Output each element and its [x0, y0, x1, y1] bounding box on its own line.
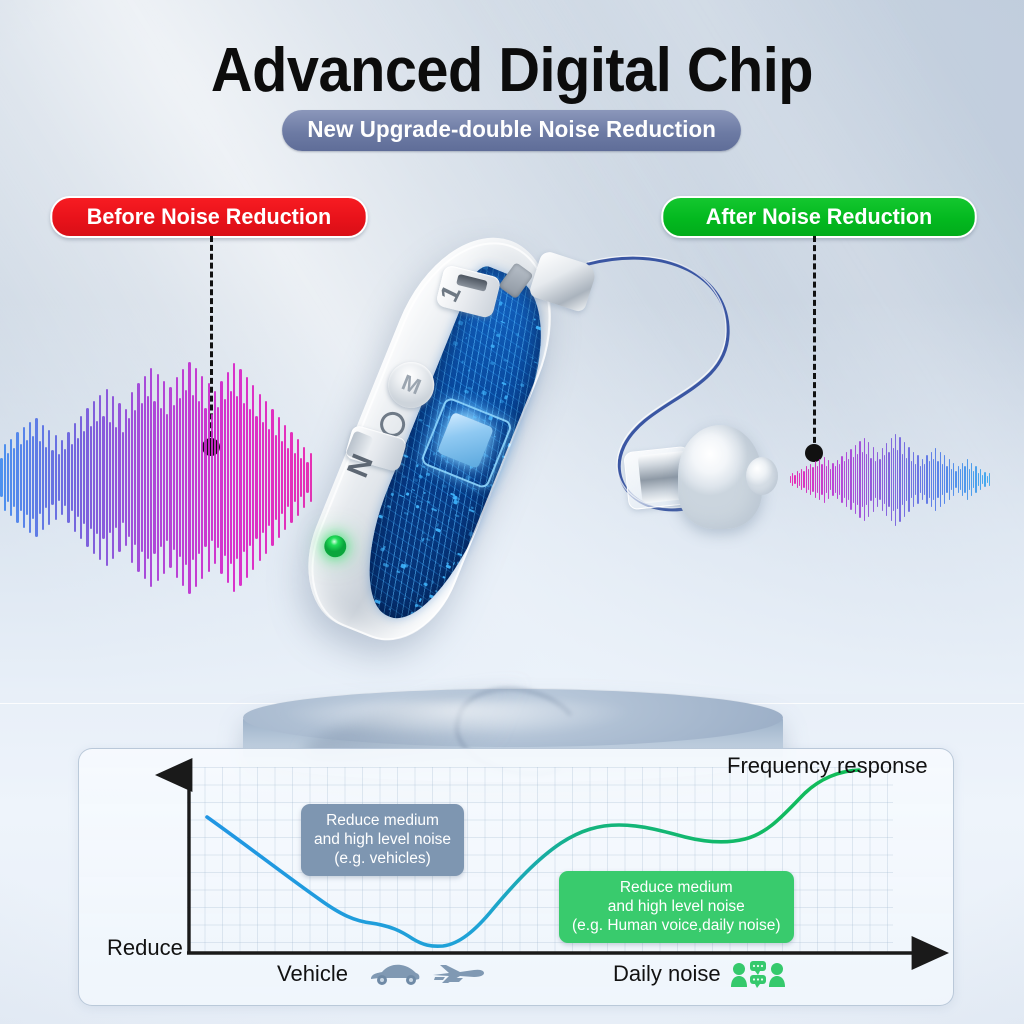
waveform-bar: [58, 454, 60, 500]
waveform-bar: [895, 434, 896, 526]
waveform-bar: [870, 458, 871, 502]
waveform-bar: [980, 469, 981, 490]
x-axis-label-vehicle: Vehicle: [277, 961, 348, 987]
waveform-bar: [853, 457, 854, 503]
waveform-bar: [973, 471, 974, 488]
waveform-bar: [198, 401, 200, 553]
waveform-bar: [841, 456, 842, 503]
waveform-bar: [93, 401, 95, 553]
waveform-bar: [163, 381, 165, 574]
waveform-bar: [844, 461, 845, 497]
waveform-bar: [195, 368, 197, 587]
waveform-bar: [106, 389, 108, 567]
waveform-bar: [924, 464, 925, 495]
waveform-bar: [166, 414, 168, 540]
waveform-bar: [899, 437, 900, 522]
waveform-bar: [944, 455, 945, 503]
waveform-bar: [953, 463, 954, 497]
waveform-bar: [893, 448, 894, 511]
waveform-bar: [879, 459, 880, 500]
waveform-bar: [940, 452, 941, 508]
waveform-bar: [16, 432, 18, 522]
waveform-bar: [946, 466, 947, 493]
waveform-bar: [0, 458, 2, 497]
waveform-bar: [134, 410, 136, 544]
waveform-bar: [848, 459, 849, 500]
waveform-bar: [806, 466, 807, 493]
waveform-bar: [886, 443, 887, 516]
y-axis-label: Reduce: [107, 935, 183, 961]
callout-daily-line-3: (e.g. Human voice,daily noise): [572, 916, 781, 935]
waveform-bar: [862, 452, 863, 508]
waveform-bar: [933, 459, 934, 500]
callout-vehicle-line-2: and high level noise: [314, 830, 451, 849]
chart-plot-area: [79, 749, 953, 1005]
waveform-bar: [192, 395, 194, 560]
waveform-bar: [48, 430, 50, 525]
waveform-bar: [125, 409, 127, 546]
waveform-bar: [169, 387, 171, 567]
waveform-bar: [960, 469, 961, 491]
waveform-bar: [173, 405, 175, 549]
waveform-bar: [911, 461, 912, 497]
waveform-bar: [102, 416, 104, 540]
connector-line-after: [813, 236, 816, 452]
waveform-bar: [926, 455, 927, 503]
callout-daily-line-1: Reduce medium: [572, 878, 781, 897]
waveform-bar: [830, 469, 831, 491]
waveform-bar: [45, 447, 47, 509]
waveform-bar: [875, 461, 876, 497]
waveform-bar: [185, 390, 187, 565]
status-badge-after: After Noise Reduction: [661, 196, 977, 238]
waveform-bar: [832, 463, 833, 496]
waveform-bar: [80, 416, 82, 540]
waveform-bar: [949, 459, 950, 500]
waveform-bar: [13, 448, 15, 507]
waveform-bar: [208, 383, 210, 571]
waveform-bar: [35, 418, 37, 537]
waveform-bar: [908, 447, 909, 512]
waveform-bar: [904, 442, 905, 517]
daily-noise-icons-group: [729, 959, 787, 994]
waveform-bar: [891, 438, 892, 520]
callout-vehicle: Reduce medium and high level noise (e.g.…: [301, 804, 464, 876]
waveform-bar: [71, 444, 73, 511]
waveform-bar: [141, 403, 143, 553]
waveform-bar: [201, 376, 203, 580]
subtitle-badge: New Upgrade-double Noise Reduction: [282, 110, 741, 151]
waveform-bar: [975, 466, 976, 493]
waveform-bar: [176, 377, 178, 578]
waveform-bar: [137, 383, 139, 571]
waveform-bar: [128, 418, 130, 537]
waveform-bar: [109, 422, 111, 533]
callout-vehicle-line-3: (e.g. vehicles): [314, 849, 451, 868]
waveform-bar: [74, 423, 76, 531]
airplane-icon: [429, 961, 485, 987]
waveform-bar: [931, 452, 932, 508]
waveform-bar: [115, 427, 117, 528]
waveform-bar: [61, 440, 63, 515]
subtitle-container: New Upgrade-double Noise Reduction: [0, 110, 1024, 151]
waveform-bar: [122, 432, 124, 522]
pedestal-gloss: [268, 700, 688, 734]
waveform-bar: [51, 450, 53, 504]
waveform-bar: [211, 414, 213, 540]
waveform-bar: [967, 459, 968, 500]
waveform-bar: [884, 455, 885, 503]
waveform-bar: [958, 466, 959, 493]
waveform-bar: [32, 436, 34, 518]
waveform-bar: [920, 466, 921, 493]
vehicle-icons-group: [369, 961, 485, 987]
waveform-bar: [989, 473, 990, 485]
after-noise-waveform: [790, 432, 990, 527]
waveform-bar: [131, 392, 133, 562]
waveform-bar: [55, 435, 57, 520]
waveform-bar: [868, 442, 869, 517]
waveform-bar: [955, 471, 956, 488]
callout-vehicle-line-1: Reduce medium: [314, 811, 451, 830]
waveform-bar: [835, 466, 836, 493]
waveform-bar: [160, 408, 162, 547]
waveform-bar: [10, 439, 12, 516]
waveform-bar: [39, 441, 41, 513]
waveform-bar: [917, 455, 918, 503]
waveform-bar: [913, 452, 914, 508]
waveform-bar: [217, 407, 219, 549]
waveform-bar: [984, 472, 985, 488]
waveform-bar: [929, 461, 930, 497]
waveform-bar: [803, 471, 804, 488]
waveform-bar: [951, 469, 952, 491]
waveform-bar: [846, 452, 847, 506]
waveform-bar: [969, 469, 970, 491]
waveform-bar: [118, 403, 120, 553]
waveform-bar: [819, 459, 820, 500]
waveform-bar: [20, 444, 22, 511]
waveform-bar: [153, 401, 155, 553]
ear-tip-receiver: [620, 415, 800, 545]
waveform-bar: [978, 473, 979, 486]
waveform-bar: [817, 466, 818, 494]
waveform-bar: [112, 396, 114, 558]
waveform-bar: [147, 396, 149, 558]
waveform-bar: [855, 445, 856, 514]
waveform-bar: [150, 368, 152, 587]
waveform-bar: [815, 461, 816, 497]
waveform-bar: [937, 461, 938, 497]
status-badge-before: Before Noise Reduction: [50, 196, 368, 238]
waveform-bar: [935, 448, 936, 511]
waveform-bar: [839, 464, 840, 495]
waveform-bar: [859, 441, 860, 517]
page-title: Advanced Digital Chip: [36, 35, 988, 106]
waveform-bar: [182, 369, 184, 586]
car-icon: [369, 961, 421, 987]
waveform-bar: [877, 452, 878, 508]
waveform-bar: [888, 452, 889, 508]
waveform-bar: [882, 448, 883, 511]
waveform-bar: [821, 464, 822, 495]
waveform-bar: [850, 449, 851, 511]
waveform-bar: [964, 466, 965, 493]
waveform-bar: [810, 464, 811, 495]
waveform-bar: [188, 362, 190, 594]
waveform-bar: [77, 438, 79, 518]
waveform-bar: [982, 475, 983, 485]
waveform-bar: [828, 460, 829, 499]
waveform-bar: [26, 440, 28, 515]
chart-annotation-frequency-response: Frequency response: [727, 753, 928, 779]
waveform-bar: [96, 421, 98, 534]
callout-daily-line-2: and high level noise: [572, 897, 781, 916]
frequency-response-chart: Reduce Frequency response Vehicle Daily …: [78, 748, 954, 1006]
waveform-bar: [857, 454, 858, 505]
waveform-bar: [987, 476, 988, 483]
waveform-bar: [7, 453, 9, 502]
waveform-bar: [906, 458, 907, 502]
waveform-bar: [64, 449, 66, 506]
waveform-bar: [67, 432, 69, 522]
waveform-bar: [826, 466, 827, 493]
people-talking-icon: [729, 959, 787, 989]
waveform-bar: [864, 438, 865, 522]
waveform-bar: [42, 425, 44, 531]
waveform-bar: [866, 454, 867, 505]
waveform-bar: [942, 464, 943, 495]
waveform-bar: [90, 426, 92, 529]
waveform-bar: [4, 444, 6, 511]
x-axis-label-daily-noise: Daily noise: [613, 961, 721, 987]
waveform-bar: [915, 464, 916, 495]
waveform-bar: [837, 460, 838, 500]
waveform-bar: [897, 450, 898, 508]
waveform-bar: [204, 408, 206, 547]
waveform-bar: [144, 376, 146, 580]
waveform-bar: [23, 427, 25, 528]
ear-dome-tip: [746, 457, 778, 495]
waveform-bar: [962, 463, 963, 497]
waveform-bar: [873, 447, 874, 512]
waveform-bar: [157, 374, 159, 580]
waveform-bar: [179, 398, 181, 558]
waveform-bar: [83, 431, 85, 524]
waveform-bar: [824, 457, 825, 503]
waveform-bar: [922, 459, 923, 500]
waveform-bar: [812, 467, 813, 491]
waveform-bar: [801, 469, 802, 491]
waveform-bar: [29, 422, 31, 533]
waveform-bar: [99, 395, 101, 560]
waveform-bar: [902, 454, 903, 505]
waveform-bar: [86, 408, 88, 547]
callout-daily: Reduce medium and high level noise (e.g.…: [559, 871, 794, 943]
waveform-bar: [808, 469, 809, 490]
product-infographic: Advanced Digital Chip New Upgrade-double…: [0, 0, 1024, 1024]
waveform-bar: [971, 463, 972, 497]
